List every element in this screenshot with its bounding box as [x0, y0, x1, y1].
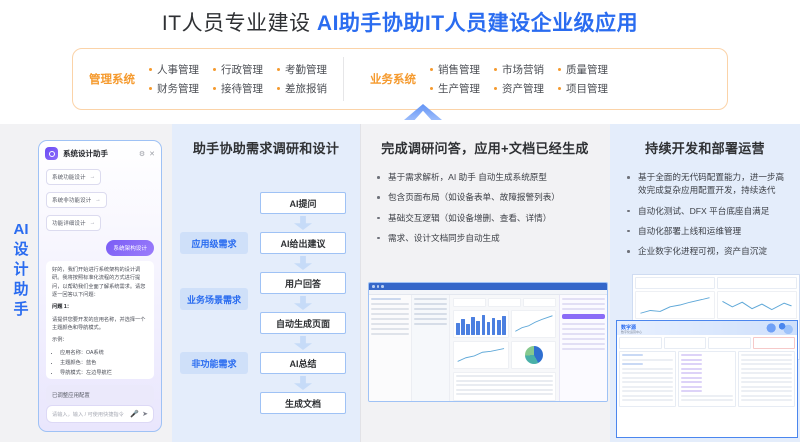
bullet-item: 自动化部署上线和运维管理	[626, 225, 786, 238]
flow-box[interactable]: AI提问	[260, 192, 346, 214]
banner-box: 管理系统 人事管理 行政管理 考勤管理 财务管理 接待管理 差旅报销 业务系统 …	[72, 48, 728, 110]
group-items: 人事管理 行政管理 考勤管理 财务管理 接待管理 差旅报销	[149, 62, 327, 96]
systems-banner: 管理系统 人事管理 行政管理 考勤管理 财务管理 接待管理 差旅报销 业务系统 …	[0, 44, 800, 110]
dashboard-mockup-front: 数字源 数字化运营中心	[616, 320, 798, 438]
bullet-item: 包含页面布局（如设备表单、故障报警列表）	[376, 191, 596, 204]
bullet-item: 基于全面的无代码配置能力，进一步高效完成复杂应用配置开发，持续迭代	[626, 171, 786, 198]
banner-item[interactable]: 销售管理	[430, 62, 480, 77]
system-note: 已调整应用配置	[46, 385, 154, 405]
bullet-list: 基于全面的无代码配置能力，进一步高效完成复杂应用配置开发，持续迭代 自动化测试、…	[610, 157, 800, 259]
mock-chart-row-2	[453, 341, 557, 369]
title-plain: IT人员专业建设	[162, 12, 311, 35]
chat-panel: 系统设计助手 ⚙ ✕ 系统功能设计 → 系统非功能设计 → 功能详细设计	[38, 140, 162, 432]
gear-icon[interactable]: ⚙	[139, 150, 145, 158]
column-heading: 助手协助需求调研和设计	[172, 124, 360, 157]
banner-item[interactable]: 接待管理	[213, 81, 263, 96]
mock-table-right	[738, 351, 795, 407]
arrow-right-icon: →	[90, 220, 96, 226]
flow-arrow-icon	[294, 216, 312, 230]
banner-item[interactable]: 行政管理	[213, 62, 263, 77]
column-ai-design-assistant: AI 设 计 助 手 系统设计助手 ⚙ ✕ 系统功能设计 → 系统非功能设计 →	[0, 124, 172, 442]
assistant-question-text: 请提供您要开发的应用名称，并选择一个主题颜色和导航模式。	[52, 316, 148, 333]
app-logo-icon	[45, 147, 58, 160]
arrow-right-icon: →	[90, 174, 96, 180]
banner-item[interactable]: 项目管理	[558, 81, 608, 96]
close-icon[interactable]: ✕	[149, 150, 155, 158]
flow-box[interactable]: 自动生成页面	[260, 312, 346, 334]
stage-label: 业务场景需求	[180, 288, 248, 310]
flow-arrow-icon	[294, 296, 312, 310]
send-icon[interactable]: ➤	[142, 410, 148, 418]
chip-label: 系统非功能设计	[52, 196, 91, 204]
mock-brand-subtitle: 数字化运营中心	[621, 330, 642, 334]
title-text: IT人员专业建设 AI助手协助IT人员建设企业级应用	[162, 7, 638, 37]
mock-header: 数字源 数字化运营中心	[617, 321, 797, 335]
dashboard-mockup	[368, 282, 608, 402]
arrow-right-icon: →	[95, 197, 101, 203]
mock-table-left	[619, 351, 676, 407]
group-items: 销售管理 市场营销 质量管理 生产管理 资产管理 项目管理	[430, 62, 608, 96]
content-columns: AI 设 计 助 手 系统设计助手 ⚙ ✕ 系统功能设计 → 系统非功能设计 →	[0, 124, 800, 442]
flow-arrow-icon	[294, 256, 312, 270]
bullet-item: 基础交互逻辑（如设备增删、查看、详情）	[376, 212, 596, 225]
mock-line-chart	[635, 291, 715, 319]
stage-label: 应用级需求	[180, 232, 248, 254]
stage-label: 非功能需求	[180, 352, 248, 374]
banner-item[interactable]: 资产管理	[494, 81, 544, 96]
banner-item[interactable]: 人事管理	[149, 62, 199, 77]
banner-item[interactable]: 差旅报销	[277, 81, 327, 96]
mock-body	[369, 295, 607, 401]
mock-line-chart-2	[717, 291, 797, 319]
column-devops: 持续开发和部署运营 基于全面的无代码配置能力，进一步高效完成复杂应用配置开发，持…	[610, 124, 800, 442]
mock-chart-row	[633, 291, 799, 319]
banner-item[interactable]: 生产管理	[430, 81, 480, 96]
banner-item[interactable]: 财务管理	[149, 81, 199, 96]
microphone-icon[interactable]: 🎤	[130, 410, 139, 418]
page-title: IT人员专业建设 AI助手协助IT人员建设企业级应用	[0, 0, 800, 44]
example-item: 导航模式：左边导航栏	[60, 369, 148, 377]
flow-box[interactable]: 用户回答	[260, 272, 346, 294]
mock-area-chart	[453, 341, 509, 369]
bullet-item: 需求、设计文档同步自动生成	[376, 232, 596, 245]
slide-root: IT人员专业建设 AI助手协助IT人员建设企业级应用 管理系统 人事管理 行政管…	[0, 0, 800, 442]
flow-arrow-icon	[294, 376, 312, 390]
banner-item[interactable]: 市场营销	[494, 62, 544, 77]
mock-nav	[412, 295, 450, 401]
mock-table-row	[617, 351, 797, 409]
chip-label: 功能详细设计	[52, 219, 86, 227]
vertical-label: AI 设 计 助 手	[8, 220, 34, 320]
chip-label: 系统功能设计	[52, 173, 86, 181]
mock-main	[450, 295, 560, 401]
chat-input-placeholder: 请输入，输入 / 可使用快捷指令	[52, 411, 127, 418]
user-message: 系统架构设计	[106, 240, 154, 256]
banner-group-management: 管理系统 人事管理 行政管理 考勤管理 财务管理 接待管理 差旅报销	[89, 62, 343, 96]
mock-assistant-panel	[559, 295, 607, 401]
column-heading: 完成调研问答，应用+文档已经生成	[360, 124, 610, 157]
chat-header: 系统设计助手 ⚙ ✕	[39, 141, 161, 164]
mock-chart-row	[453, 310, 557, 338]
flow-box[interactable]: 生成文档	[260, 392, 346, 414]
decorative-graphic	[761, 322, 795, 334]
mock-sidebar	[369, 295, 412, 401]
example-item: 主题颜色：蓝色	[60, 359, 148, 367]
assistant-examples: 应用名称：OA系统 主题颜色：蓝色 导航模式：左边导航栏	[60, 349, 148, 378]
banner-item[interactable]: 考勤管理	[277, 62, 327, 77]
suggestion-chip[interactable]: 系统非功能设计 →	[46, 192, 107, 208]
bullet-list: 基于需求解析，AI 助手 自动生成系统原型 包含页面布局（如设备表单、故障报警列…	[360, 157, 610, 245]
flow-box[interactable]: AI总结	[260, 352, 346, 374]
chat-input[interactable]: 请输入，输入 / 可使用快捷指令 🎤 ➤	[46, 405, 154, 423]
mock-table-middle	[678, 351, 735, 407]
assistant-question-title: 问题 1：	[52, 303, 148, 311]
column-heading: 持续开发和部署运营	[610, 124, 800, 157]
banner-item[interactable]: 质量管理	[558, 62, 608, 77]
assistant-example-label: 示例：	[52, 336, 148, 344]
chat-title: 系统设计助手	[63, 148, 135, 159]
assistant-message: 好的，我们开始进行系统架构的设计调研。我将按照标准化流程的方式进行提问，以帮助我…	[46, 261, 154, 379]
assistant-intro: 好的，我们开始进行系统架构的设计调研。我将按照标准化流程的方式进行提问，以帮助我…	[52, 266, 148, 299]
bullet-item: 自动化测试、DFX 平台底座自满足	[626, 205, 786, 218]
mock-table	[453, 372, 557, 401]
suggestion-chip[interactable]: 功能详细设计 →	[46, 215, 101, 231]
bullet-item: 基于需求解析，AI 助手 自动生成系统原型	[376, 171, 596, 184]
mock-bar-chart	[453, 310, 509, 338]
suggestion-chip[interactable]: 系统功能设计 →	[46, 169, 101, 185]
flow-box[interactable]: AI给出建议	[260, 232, 346, 254]
mock-line-chart	[511, 310, 557, 338]
flow-arrow-icon	[294, 336, 312, 350]
mock-titlebar	[369, 283, 607, 290]
mock-pie-chart	[511, 341, 557, 369]
title-accent: AI助手协助IT人员建设企业级应用	[317, 12, 638, 35]
column-divider	[360, 124, 361, 442]
mock-kpi-row	[633, 275, 799, 291]
suggestion-chips: 系统功能设计 → 系统非功能设计 → 功能详细设计 →	[39, 164, 161, 237]
group-title: 业务系统	[370, 71, 416, 87]
user-message-row: 系统架构设计	[39, 237, 161, 261]
example-item: 应用名称：OA系统	[60, 349, 148, 357]
mock-kpi-cards	[453, 298, 557, 307]
group-title: 管理系统	[89, 71, 135, 87]
bullet-item: 企业数字化进程可视，资产自沉淀	[626, 245, 786, 258]
banner-group-business: 业务系统 销售管理 市场营销 质量管理 生产管理 资产管理 项目管理	[344, 62, 608, 96]
column-requirements-flow: 助手协助需求调研和设计 AI提问 应用级需求 AI给出建议 用户回答 业务场景需…	[172, 124, 360, 442]
column-generated-output: 完成调研问答，应用+文档已经生成 基于需求解析，AI 助手 自动生成系统原型 包…	[360, 124, 610, 442]
mock-kpi-row	[617, 335, 797, 351]
